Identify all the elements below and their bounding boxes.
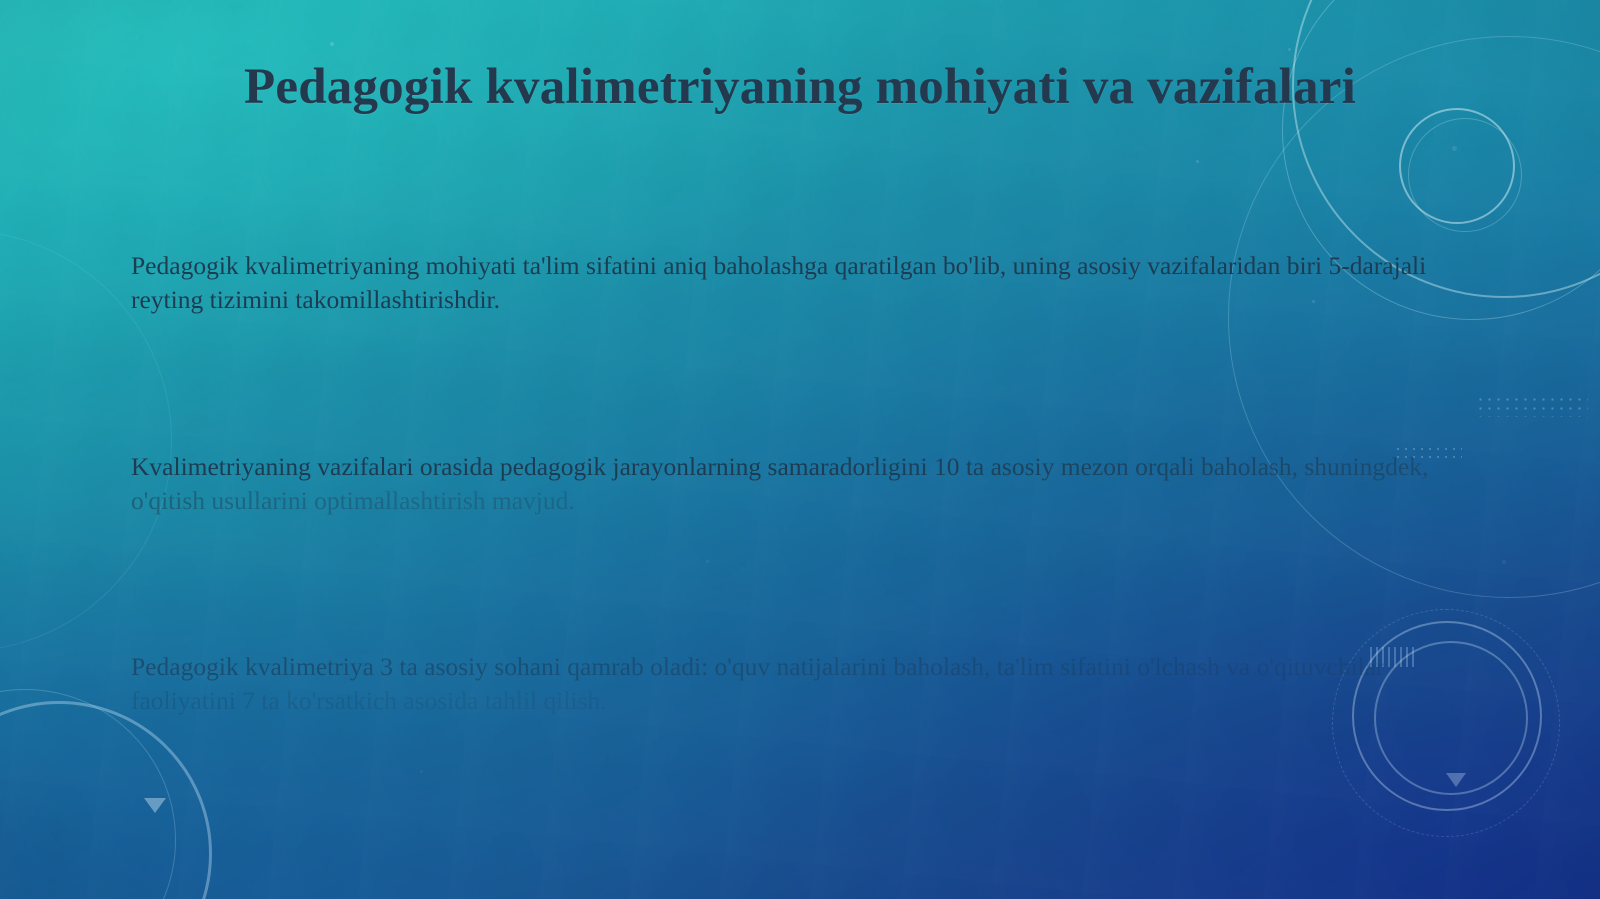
paragraph-text: Pedagogik kvalimetriya 3 ta asosiy sohan…: [131, 652, 1384, 715]
presentation-slide: Pedagogik kvalimetriyaning mohiyati va v…: [0, 0, 1600, 899]
body-paragraph-1: Pedagogik kvalimetriyaning mohiyati ta'l…: [131, 249, 1431, 317]
body-paragraph-3: Pedagogik kvalimetriya 3 ta asosiy sohan…: [131, 650, 1431, 718]
page-title: Pedagogik kvalimetriyaning mohiyati va v…: [0, 58, 1600, 116]
slide-content: Pedagogik kvalimetriyaning mohiyati va v…: [0, 0, 1600, 899]
paragraph-text: Kvalimetriyaning vazifalari orasida peda…: [131, 452, 1428, 515]
paragraph-text: Pedagogik kvalimetriyaning mohiyati ta'l…: [131, 251, 1426, 314]
body-paragraph-2: Kvalimetriyaning vazifalari orasida peda…: [131, 450, 1431, 518]
